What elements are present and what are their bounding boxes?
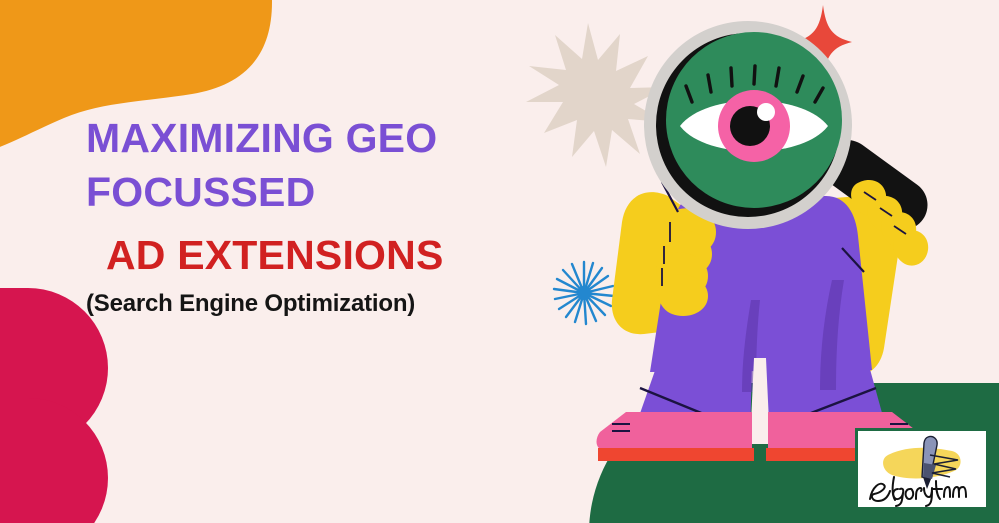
magenta-semicircle-bottom — [0, 398, 108, 523]
headline-block: MAXIMIZING GEO FOCUSSED AD EXTENSIONS (S… — [86, 117, 516, 317]
banner: MAXIMIZING GEO FOCUSSED AD EXTENSIONS (S… — [0, 0, 999, 523]
headline-line-3: AD EXTENSIONS — [86, 234, 516, 277]
headline-subtitle: (Search Engine Optimization) — [86, 291, 516, 316]
logo-wordmark — [870, 477, 966, 506]
eye-highlight — [757, 103, 775, 121]
beige-star-icon — [526, 23, 667, 167]
headline-line-2: FOCUSSED — [86, 171, 516, 214]
magnifying-glass-head — [644, 21, 852, 229]
brand-logo-card[interactable] — [855, 428, 989, 510]
blue-burst-icon — [554, 262, 614, 324]
headline-line-1: MAXIMIZING GEO — [86, 117, 516, 160]
